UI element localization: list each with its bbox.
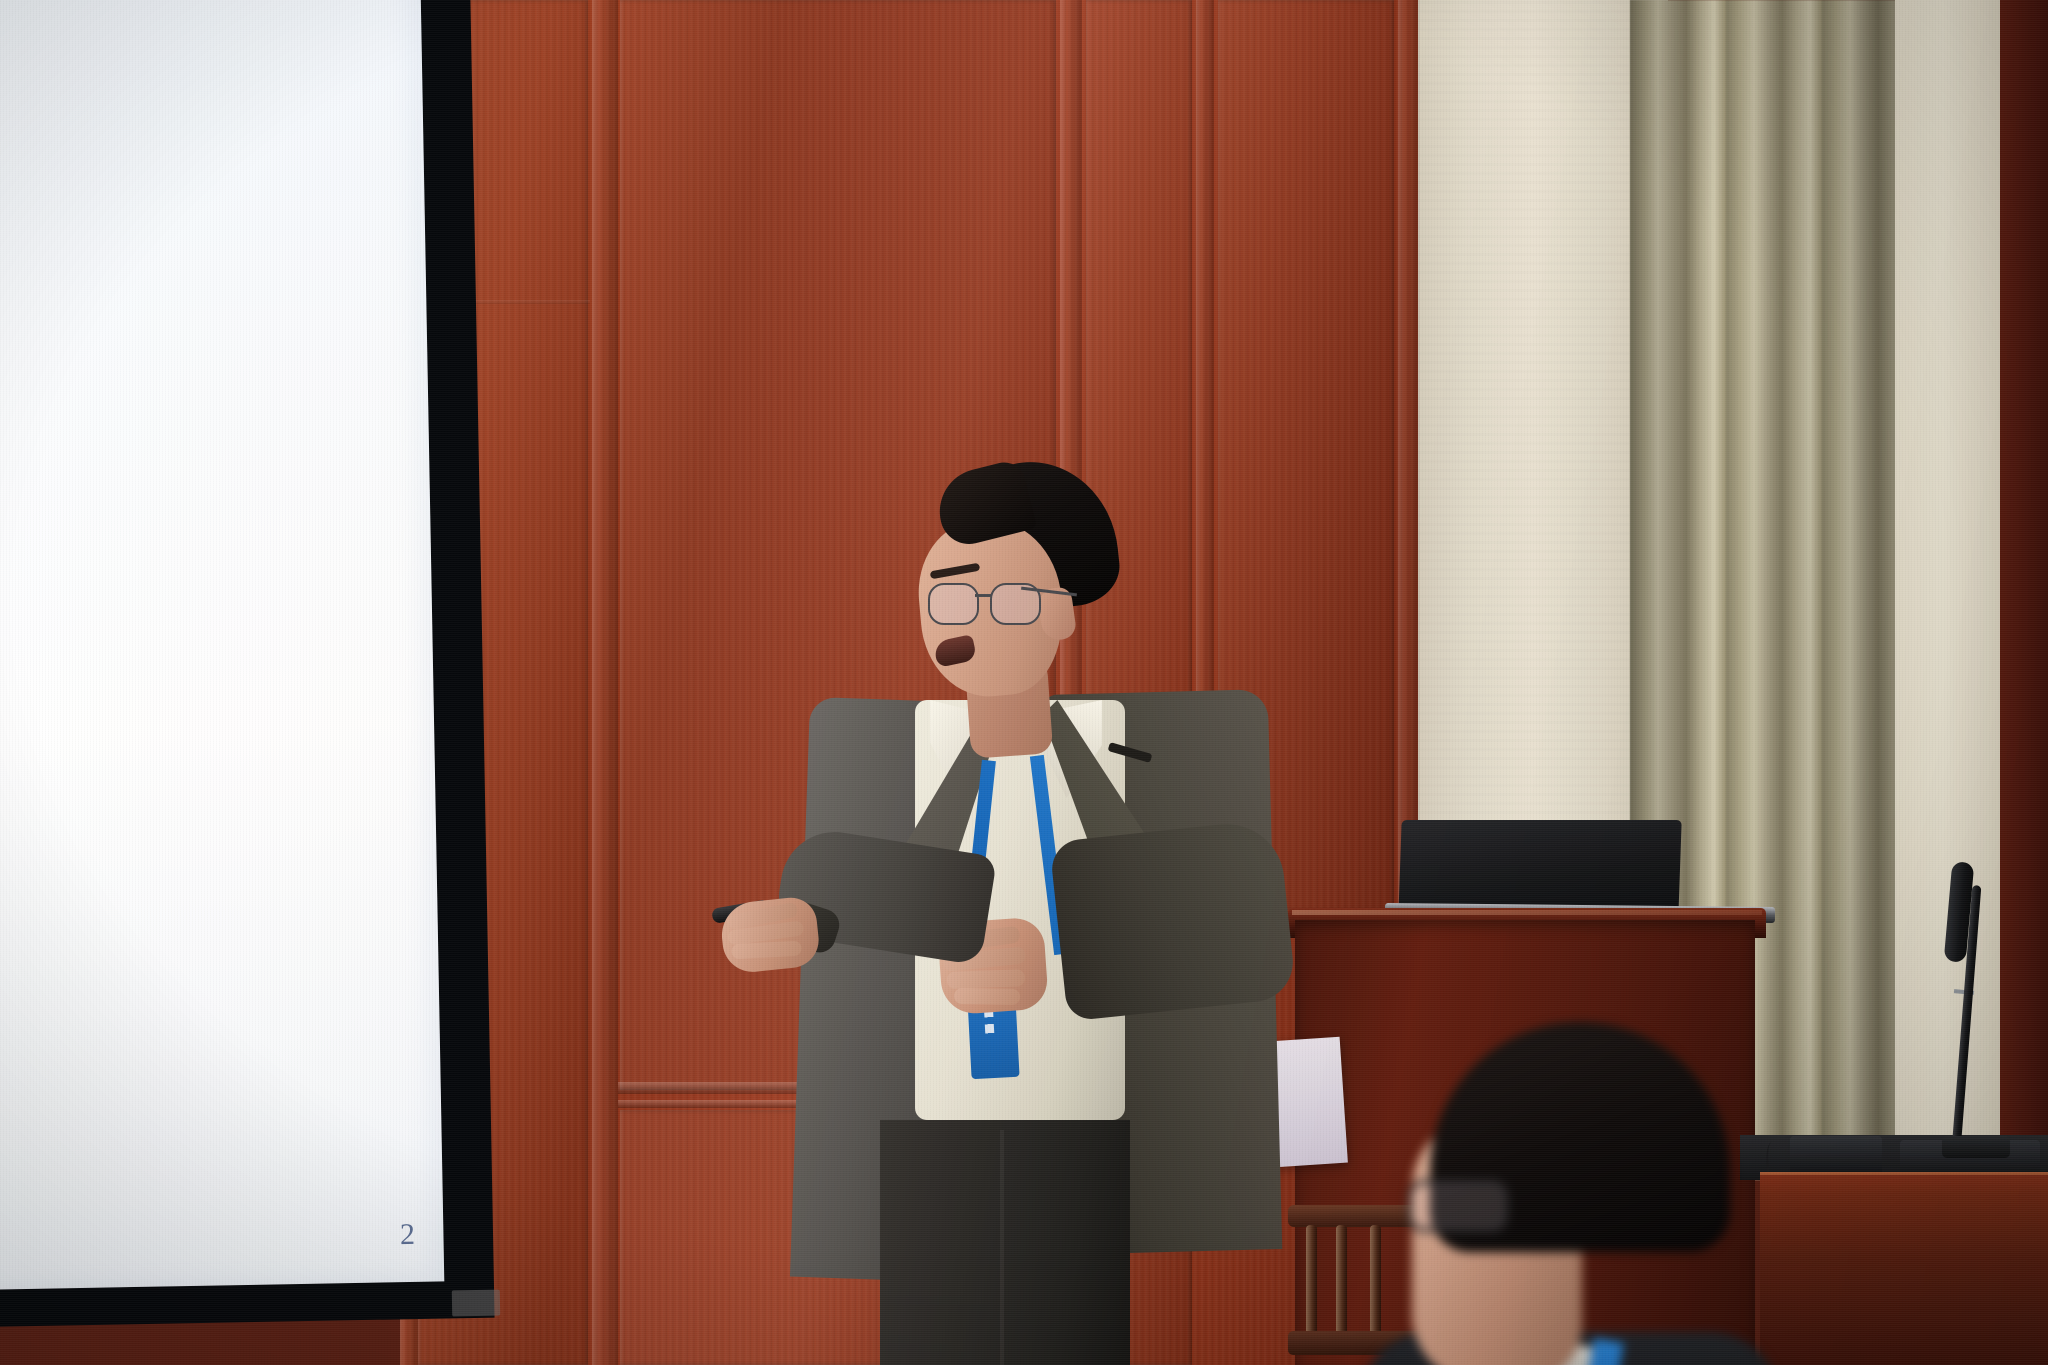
av-equipment	[1790, 1136, 1882, 1176]
glasses-lens-left	[928, 583, 979, 625]
slide-number: 2	[400, 1218, 416, 1252]
finger	[947, 969, 1026, 989]
presenter-trouser-crease	[1000, 1130, 1004, 1365]
glasses-bridge	[975, 594, 991, 597]
wall-pilaster	[592, 0, 618, 1365]
microphone-base	[1942, 1136, 2010, 1158]
finger	[954, 988, 1020, 1005]
lectern-edge-highlight	[1292, 910, 1762, 915]
right-wall-edge	[2000, 0, 2048, 1190]
chair-spindle	[1336, 1225, 1347, 1335]
screen-label-plate	[452, 1290, 500, 1317]
audience-glasses	[1408, 1180, 1508, 1232]
chair-spindle	[1306, 1225, 1317, 1335]
presenter-arm-right	[1049, 818, 1297, 1021]
presenter-trousers	[880, 1120, 1130, 1365]
auditorium-photo: 2	[0, 0, 2048, 1365]
finger	[731, 941, 802, 960]
projection-screen-surface	[0, 0, 444, 1290]
av-ledge	[1760, 1175, 2048, 1365]
right-wall	[1895, 0, 2015, 1180]
chair-spindle	[1370, 1225, 1381, 1335]
